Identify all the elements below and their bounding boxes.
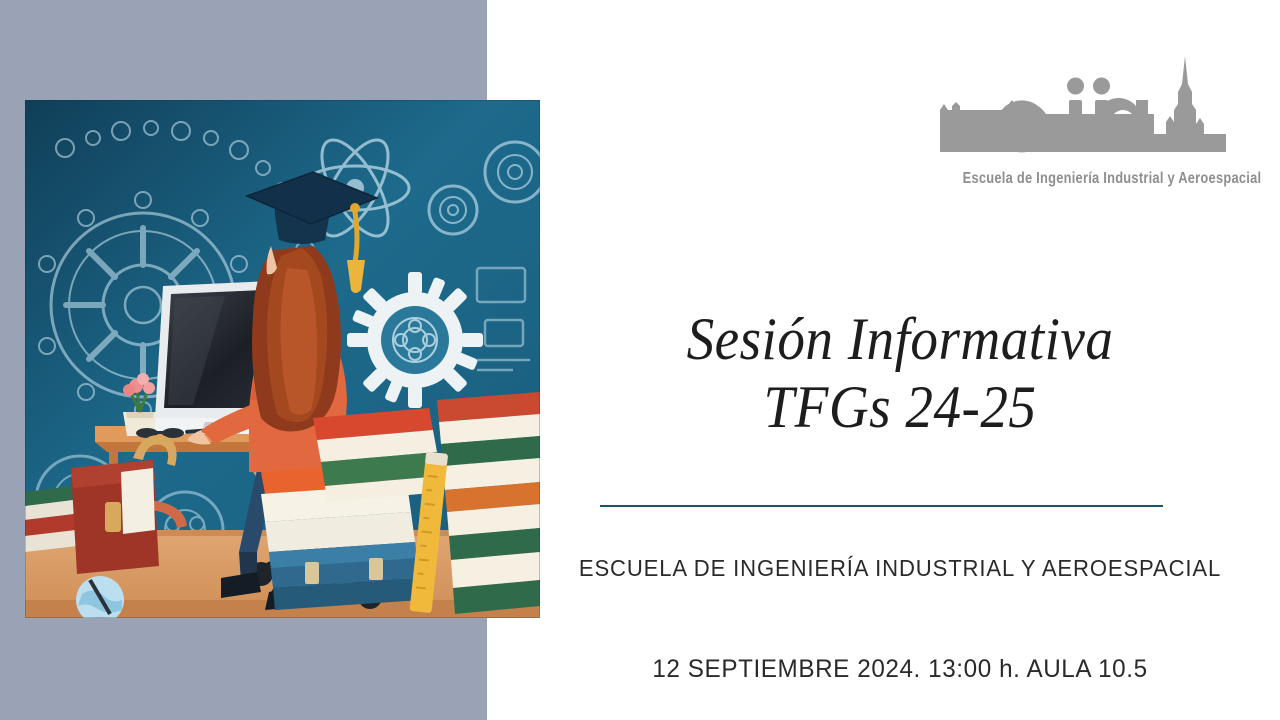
title-line-1: Sesión Informativa [587, 306, 1213, 374]
logo-tagline: Escuela de Ingeniería Industrial y Aeroe… [963, 170, 1204, 188]
event-details: 12 SEPTIEMBRE 2024. 13:00 h. AULA 10.5 [560, 655, 1240, 684]
eiia-logo: Escuela de Ingeniería Industrial y Aeroe… [938, 48, 1228, 188]
slide-subtitle: ESCUELA DE INGENIERÍA INDUSTRIAL Y AEROE… [560, 552, 1240, 585]
title-divider [600, 505, 1163, 507]
slide-title: Sesión Informativa TFGs 24-25 [560, 306, 1240, 442]
presentation-slide: Escuela de Ingeniería Industrial y Aeroe… [0, 0, 1280, 720]
illustration-artwork [25, 100, 540, 618]
event-details-text: 12 SEPTIEMBRE 2024. 13:00 h. AULA 10.5 [570, 655, 1230, 684]
eiia-logo-mark-icon [938, 48, 1228, 168]
subtitle-text: ESCUELA DE INGENIERÍA INDUSTRIAL Y AEROE… [574, 552, 1227, 585]
title-line-2: TFGs 24-25 [587, 374, 1213, 442]
hero-illustration [25, 100, 540, 618]
